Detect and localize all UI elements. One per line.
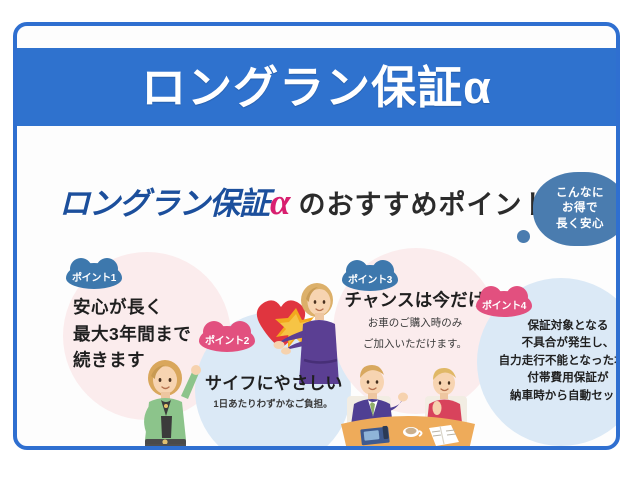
speech-bubble-line-2: お得で — [562, 202, 598, 216]
subheadline-alpha: α — [270, 181, 290, 224]
point-4-badge-label: ポイント4 — [482, 297, 526, 312]
subheadline: ロングラン保証 α のおすすめポイント — [59, 178, 550, 224]
point-2-text: サイフにやさしい 1日あたりわずかなご負担。 — [205, 374, 341, 413]
point-4-badge: ポイント4 — [476, 291, 532, 317]
point-3-sub-2: ご加入いただけます。 — [339, 337, 491, 353]
point-3-sub-1: お車のご購入時のみ — [339, 316, 491, 332]
point-3-badge-label: ポイント3 — [348, 271, 392, 286]
point-4-text: 保証対象となる 不具合が発生し、 自力走行不能となった場合 付帯費用保証が 納車… — [483, 318, 620, 405]
warranty-poster: ロングラン保証α ロングラン保証 α のおすすめポイント こんなに お得で 長く… — [0, 0, 640, 480]
point-1-text: 安心が長く 最大3年間まで 続きます — [73, 294, 191, 374]
point-4-line-1: 保証対象となる — [483, 318, 620, 335]
subheadline-rest: のおすすめポイント — [298, 183, 550, 222]
woman-heart-svg — [249, 278, 353, 388]
speech-bubble-line-3: 長く安心 — [556, 218, 604, 232]
poster-frame: ロングラン保証α ロングラン保証 α のおすすめポイント こんなに お得で 長く… — [13, 22, 620, 450]
point-3-line-1: チャンスは今だけ — [339, 290, 491, 311]
point-1-line-2: 最大3年間まで — [73, 321, 191, 348]
point-2-badge: ポイント2 — [199, 326, 255, 352]
speech-bubble: こんなに お得で 長く安心 — [533, 172, 620, 246]
point-1-badge: ポイント1 — [66, 263, 122, 289]
speech-bubble-line-1: こんなに — [556, 187, 604, 201]
illustration-table-scene — [339, 362, 477, 450]
speech-bubble-tail — [517, 230, 530, 243]
point-1-line-1: 安心が長く — [73, 294, 191, 321]
subheadline-brand: ロングラン保証 — [59, 178, 269, 223]
point-1-badge-label: ポイント1 — [72, 269, 116, 284]
point-1-line-3: 続きます — [73, 347, 191, 374]
point-4-line-3: 自力走行不能となった場合 — [483, 353, 620, 370]
illustration-woman-heart — [249, 278, 353, 388]
point-3-text: チャンスは今だけ お車のご購入時のみ ご加入いただけます。 — [339, 290, 491, 353]
point-2-line-1: サイフにやさしい — [205, 374, 341, 394]
point-2-badge-label: ポイント2 — [205, 332, 249, 347]
banner-title-text: ロングラン保証α — [141, 65, 492, 110]
point-4-line-2: 不具合が発生し、 — [483, 335, 620, 352]
title-banner: ロングラン保証α — [17, 48, 616, 126]
point-2-sub-1: 1日あたりわずかなご負担。 — [205, 398, 341, 412]
point-3-badge: ポイント3 — [342, 265, 398, 291]
point-4-line-4: 付帯費用保証が — [483, 370, 620, 387]
table-scene-svg — [339, 362, 477, 450]
point-4-line-5: 納車時から自動セット — [483, 388, 620, 405]
